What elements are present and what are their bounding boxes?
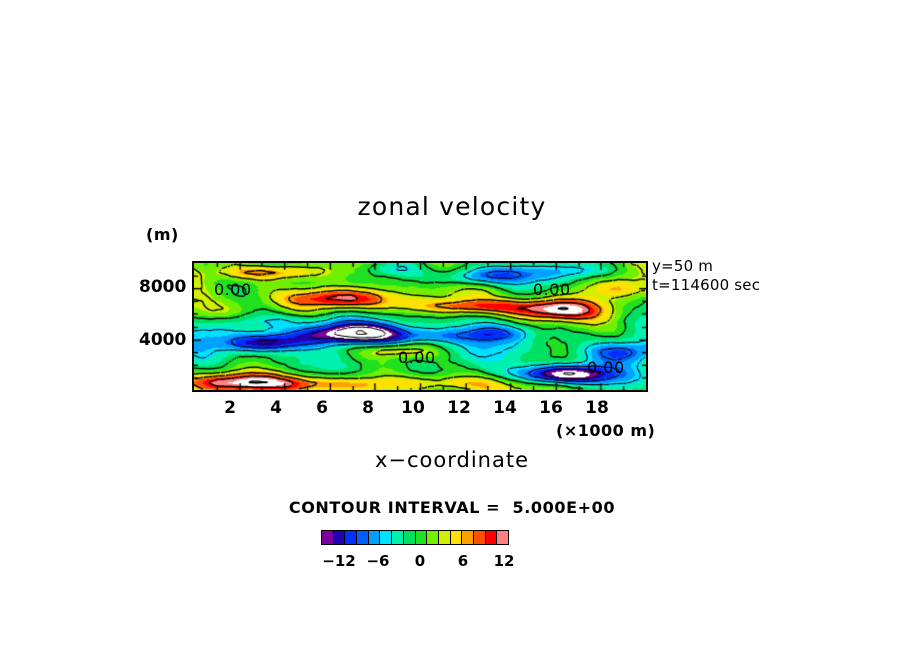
x-tick-label-12: 12 xyxy=(439,398,479,418)
contour-plot: 0.00 0.00 0.00 0.00 xyxy=(192,261,648,392)
contour-field xyxy=(194,263,646,390)
x-tick-label-14: 14 xyxy=(485,398,525,418)
page-title: zonal velocity xyxy=(0,192,904,221)
colorbar-cell-10 xyxy=(439,531,451,544)
contour-interval-caption: CONTOUR INTERVAL = 5.000E+00 xyxy=(0,498,904,517)
colorbar-cell-2 xyxy=(345,531,357,544)
annotation-time: t=114600 sec xyxy=(652,276,760,295)
figure-canvas: zonal velocity (m) 8000 4000 0.00 0.00 0… xyxy=(0,0,904,654)
contour-label-zero-2: 0.00 xyxy=(533,280,571,299)
colorbar-cell-8 xyxy=(416,531,428,544)
colorbar-tick-label-6: 6 xyxy=(443,552,483,570)
colorbar-cell-11 xyxy=(451,531,463,544)
colorbar-cell-13 xyxy=(474,531,486,544)
x-tick-label-6: 6 xyxy=(302,398,342,418)
x-tick-label-18: 18 xyxy=(577,398,617,418)
x-tick-label-8: 8 xyxy=(348,398,388,418)
colorbar-cell-15 xyxy=(497,531,508,544)
colorbar-cell-5 xyxy=(380,531,392,544)
colorbar-cell-6 xyxy=(392,531,404,544)
contour-label-zero-1: 0.00 xyxy=(214,280,252,299)
colorbar-tick-label-12: 12 xyxy=(484,552,524,570)
colorbar xyxy=(321,530,509,545)
colorbar-tick-label-neg12: −12 xyxy=(319,552,359,570)
x-axis-unit-label: (×1000 m) xyxy=(556,421,655,440)
colorbar-cell-7 xyxy=(404,531,416,544)
plot-annotations: y=50 m t=114600 sec xyxy=(652,257,760,295)
x-tick-label-2: 2 xyxy=(210,398,250,418)
x-axis-title: x−coordinate xyxy=(0,448,904,472)
x-tick-label-10: 10 xyxy=(393,398,433,418)
y-axis-unit-label: (m) xyxy=(146,225,179,244)
colorbar-cell-14 xyxy=(486,531,498,544)
colorbar-cell-3 xyxy=(357,531,369,544)
colorbar-tick-label-0: 0 xyxy=(400,552,440,570)
y-tick-label-8000: 8000 xyxy=(139,277,186,297)
x-tick-label-4: 4 xyxy=(256,398,296,418)
colorbar-cell-12 xyxy=(462,531,474,544)
annotation-y-level: y=50 m xyxy=(652,257,760,276)
contour-label-zero-4: 0.00 xyxy=(587,358,625,377)
colorbar-tick-label-neg6: −6 xyxy=(358,552,398,570)
contour-label-zero-3: 0.00 xyxy=(398,348,436,367)
colorbar-cell-4 xyxy=(369,531,381,544)
x-tick-label-16: 16 xyxy=(531,398,571,418)
colorbar-cell-9 xyxy=(427,531,439,544)
y-tick-label-4000: 4000 xyxy=(139,330,186,350)
colorbar-cell-1 xyxy=(334,531,346,544)
colorbar-cell-0 xyxy=(322,531,334,544)
